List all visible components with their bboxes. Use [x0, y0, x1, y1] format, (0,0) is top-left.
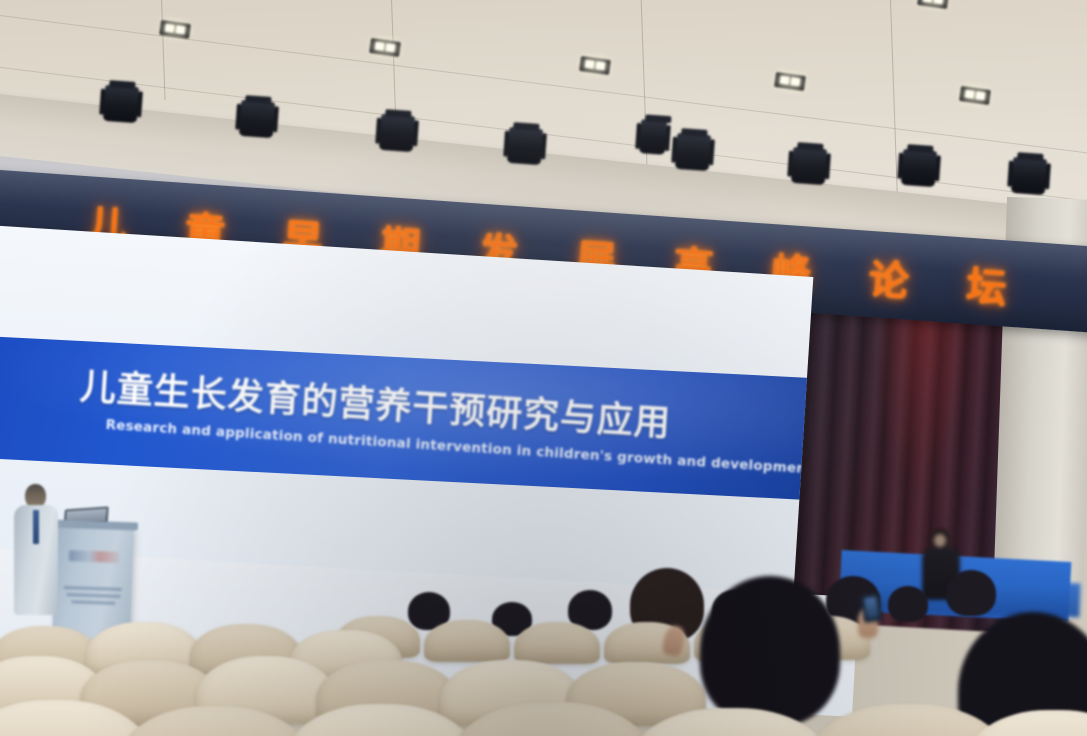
ceiling-cross-seam: [890, 0, 898, 195]
stage-spotlight-icon: [791, 147, 827, 185]
audience-head: [946, 570, 996, 616]
stage-spotlight-icon: [507, 127, 543, 165]
stage-spotlight-icon: [1011, 157, 1047, 195]
audience-head: [888, 586, 928, 622]
seat: [424, 620, 510, 662]
stage-spotlight-icon: [901, 149, 937, 187]
stage-spotlight-icon: [379, 114, 415, 152]
ceiling-cross-seam: [160, 0, 166, 100]
phone-icon: [860, 593, 883, 623]
seat: [514, 622, 600, 664]
speaker-tie: [33, 510, 39, 544]
stage-spotlight-icon: [675, 133, 711, 171]
podium-top: [52, 520, 138, 531]
phone-screen: [864, 596, 880, 620]
stage-spotlight-icon: [103, 85, 139, 123]
stage-spotlight-icon: [639, 119, 667, 155]
audience-area: [0, 560, 1087, 736]
audience-head-foreground: [700, 576, 840, 726]
side-attendee-face: [934, 534, 946, 547]
conference-hall-photo: 儿 童 早 期 发 展 高 峰 论 坛 儿童生长发育的营养干预研究与应用 Res…: [0, 0, 1087, 736]
stage-spotlight-icon: [239, 100, 275, 138]
